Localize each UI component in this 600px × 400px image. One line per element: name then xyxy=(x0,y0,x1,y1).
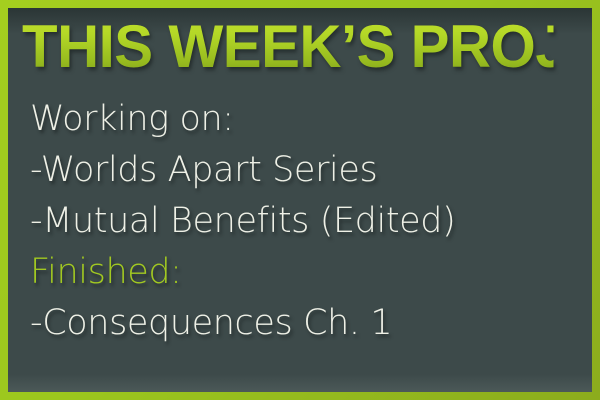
list-item-mutual-benefits: -Mutual Benefits (Edited) xyxy=(30,196,580,247)
poster-title: THIS WEEK’S PROJECTS xyxy=(22,14,554,80)
list-item-working-on-heading: Working on: xyxy=(30,94,580,145)
list-item-worlds-apart-series: -Worlds Apart Series xyxy=(30,145,580,196)
poster-inner-panel: THIS WEEK’S PROJECTS Working on: -Worlds… xyxy=(8,8,592,392)
project-list: Working on: -Worlds Apart Series -Mutual… xyxy=(30,94,580,349)
poster-content: THIS WEEK’S PROJECTS Working on: -Worlds… xyxy=(8,8,592,392)
project-status-poster: THIS WEEK’S PROJECTS Working on: -Worlds… xyxy=(0,0,600,400)
list-item-finished-heading: Finished: xyxy=(30,247,580,298)
list-item-consequences-ch-1: -Consequences Ch. 1 xyxy=(30,298,580,349)
